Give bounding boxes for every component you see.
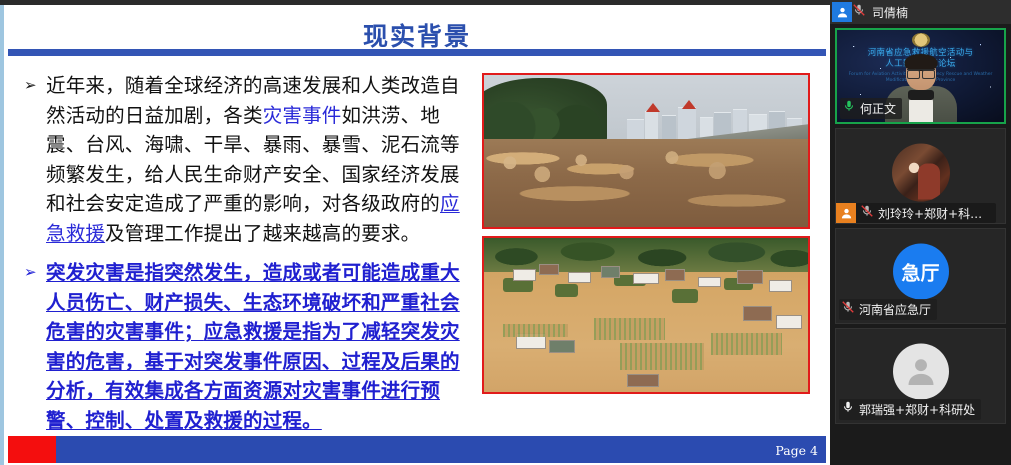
participant-avatar-person-icon [836, 203, 856, 223]
participant-tile-default-avatar[interactable]: 郭瑞强+郑财+科研处 [835, 328, 1006, 424]
slide-footer-bar [56, 436, 826, 463]
self-participant-bar[interactable]: 司倩楠 [830, 0, 1011, 24]
slide-bullet-item: ➢ 近年来，随着全球经济的高速发展和人类改造自然活动的日益加剧，各类灾害事件如洪… [24, 71, 474, 248]
bullet-2-term-emergency-rescue: 应急救援 [204, 320, 283, 343]
bullet-2-term-sudden-disaster: 突发灾害 [46, 261, 125, 284]
participant-name: 何正文 [860, 100, 896, 117]
slide-footer-accent-block [8, 436, 56, 463]
slide-body: ➢ 近年来，随着全球经济的高速发展和人类改造自然活动的日益加剧，各类灾害事件如洪… [4, 63, 830, 433]
slide-photo-flooded-river [482, 73, 810, 229]
slide-text-column: ➢ 近年来，随着全球经济的高速发展和人类改造自然活动的日益加剧，各类灾害事件如洪… [24, 71, 474, 445]
participant-photo-avatar [892, 144, 950, 202]
mic-active-icon[interactable] [842, 99, 856, 118]
mic-muted-icon[interactable] [841, 300, 855, 319]
mic-muted-icon[interactable] [860, 204, 874, 223]
participant-tile-video[interactable]: 河南省应急救援航空活动与 人工影响天气论坛 Forum for Aviation… [835, 28, 1006, 124]
slide-bullet-item: ➢ 突发灾害是指突然发生，造成或者可能造成重大人员伤亡、财产损失、生态环境破坏和… [24, 258, 474, 435]
bullet-1-segment-5: 及管理工作提出了越来越高的要求。 [105, 222, 420, 245]
participant-label: 何正文 [840, 98, 902, 119]
slide-photo-flooded-village-aerial [482, 236, 810, 394]
organization-emblem-icon [912, 33, 930, 47]
slide-title: 现实背景 [4, 17, 830, 53]
participant-name: 郭瑞强+郑财+科研处 [859, 401, 975, 418]
participant-tile-letter-avatar[interactable]: 急厅 河南省应急厅 [835, 228, 1006, 324]
slide-bullet-paragraph-2: 突发灾害是指突然发生，造成或者可能造成重大人员伤亡、财产损失、生态环境破坏和严重… [46, 258, 474, 435]
participant-label: 刘玲玲+郑财+科研... [836, 203, 996, 223]
participant-name: 刘玲玲+郑财+科研... [878, 205, 990, 222]
bullet-1-highlight-disaster-events: 灾害事件 [263, 104, 342, 127]
slide-bullet-paragraph-1: 近年来，随着全球经济的高速发展和人类改造自然活动的日益加剧，各类灾害事件如洪涝、… [46, 71, 474, 248]
meeting-screen-share-window: 现实背景 ➢ 近年来，随着全球经济的高速发展和人类改造自然活动的日益加剧，各类灾… [0, 0, 1011, 465]
slide-page-number: Page 4 [775, 443, 818, 458]
slide-title-underline-rule [8, 49, 826, 56]
shared-screen-area[interactable]: 现实背景 ➢ 近年来，随着全球经济的高速发展和人类改造自然活动的日益加剧，各类灾… [0, 0, 830, 465]
participant-initials-avatar: 急厅 [893, 244, 949, 300]
participant-name: 河南省应急厅 [859, 301, 931, 318]
participant-label: 河南省应急厅 [839, 299, 937, 320]
participant-video-strip[interactable]: 司倩楠 河南省应急救援航空活动与 人工影响天气论坛 Forum for Avia… [830, 0, 1011, 465]
bullet-arrow-icon: ➢ [24, 258, 46, 287]
participant-tile-photo-avatar[interactable]: 刘玲玲+郑财+科研... [835, 128, 1006, 224]
self-avatar-person-icon [832, 2, 852, 22]
self-mic-muted-icon[interactable] [852, 3, 866, 22]
mic-unmuted-icon[interactable] [841, 400, 855, 419]
slide-image-column [482, 73, 810, 394]
self-participant-name: 司倩楠 [872, 4, 908, 21]
participant-default-avatar-person-icon [893, 344, 949, 400]
presentation-slide: 现实背景 ➢ 近年来，随着全球经济的高速发展和人类改造自然活动的日益加剧，各类灾… [4, 5, 830, 465]
bullet-arrow-icon: ➢ [24, 71, 46, 100]
participant-label: 郭瑞强+郑财+科研处 [839, 399, 981, 420]
